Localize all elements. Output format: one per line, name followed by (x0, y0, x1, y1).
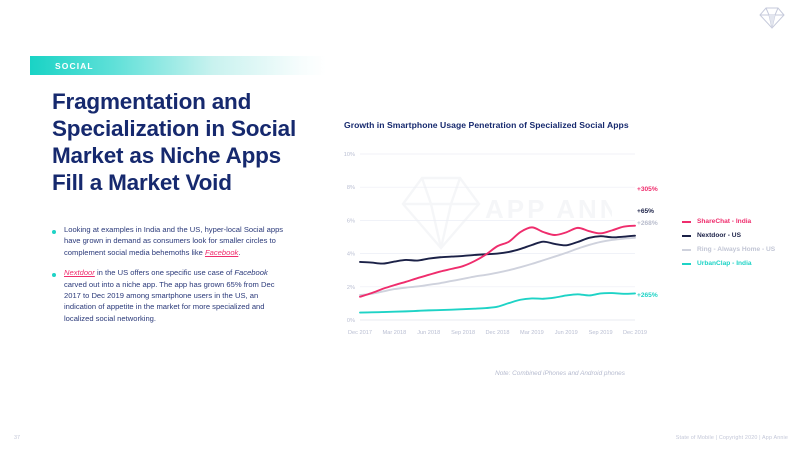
chart-note: Note: Combined iPhones and Android phone… (400, 370, 720, 377)
slide: SOCIAL Fragmentation and Specialization … (0, 0, 800, 450)
legend-swatch-icon (682, 249, 691, 251)
legend-swatch-icon (682, 221, 691, 223)
inline-link[interactable]: Facebook (205, 248, 238, 257)
x-axis-tick-label: Dec 2017 (348, 330, 372, 336)
y-axis-tick-label: 6% (347, 218, 355, 224)
x-axis-tick-label: Sep 2019 (589, 330, 613, 336)
legend-swatch-icon (682, 235, 691, 237)
legend-item-urbanclap[interactable]: UrbanClap - India (682, 260, 792, 267)
inline-link[interactable]: Nextdoor (64, 268, 95, 277)
bullet-dot-icon (52, 273, 56, 277)
x-axis-tick-label: Sep 2018 (451, 330, 475, 336)
bullet-list: Looking at examples in India and the US,… (52, 224, 284, 333)
y-axis-tick-label: 2% (347, 285, 355, 291)
list-item: Looking at examples in India and the US,… (52, 224, 284, 258)
series-end-label-urbanclap: +265% (637, 292, 658, 299)
y-axis-tick-label: 4% (347, 252, 355, 258)
bullet-text-1: Looking at examples in India and the US,… (64, 224, 284, 258)
category-banner: SOCIAL (30, 56, 326, 75)
y-axis-tick-label: 8% (347, 185, 355, 191)
x-axis-tick-label: Mar 2019 (520, 330, 544, 336)
legend-item-sharechat[interactable]: ShareChat - India (682, 218, 792, 225)
legend-label: Ring - Always Home - US (697, 246, 775, 253)
line-chart-svg: 0%2%4%6%8%10%Dec 2017Mar 2018Jun 2018Sep… (340, 150, 658, 355)
chart-title: Growth in Smartphone Usage Penetration o… (344, 120, 629, 130)
series-line-urbanclap-india (360, 293, 635, 312)
legend-label: Nextdoor - US (697, 232, 741, 239)
bullet-text-2: Nextdoor in the US offers one specific u… (64, 267, 284, 324)
x-axis-tick-label: Dec 2019 (623, 330, 647, 336)
legend-swatch-icon (682, 263, 691, 265)
category-label: SOCIAL (30, 61, 94, 71)
chart-legend: ShareChat - India Nextdoor - US Ring - A… (682, 218, 792, 274)
legend-item-ring[interactable]: Ring - Always Home - US (682, 246, 792, 253)
x-axis-tick-label: Mar 2018 (383, 330, 407, 336)
x-axis-tick-label: Jun 2018 (417, 330, 440, 336)
page-number: 37 (14, 435, 20, 441)
page-title: Fragmentation and Specialization in Soci… (52, 88, 310, 196)
x-axis-tick-label: Dec 2018 (486, 330, 510, 336)
legend-label: UrbanClap - India (697, 260, 752, 267)
y-axis-tick-label: 0% (347, 318, 355, 324)
plot-area: 0%2%4%6%8%10%Dec 2017Mar 2018Jun 2018Sep… (340, 150, 658, 338)
series-end-label-sharechat: +305% (637, 186, 658, 193)
chart-container: Growth in Smartphone Usage Penetration o… (330, 112, 790, 387)
legend-label: ShareChat - India (697, 218, 751, 225)
legend-item-nextdoor[interactable]: Nextdoor - US (682, 232, 792, 239)
list-item: Nextdoor in the US offers one specific u… (52, 267, 284, 324)
series-end-label-ring: +268% (637, 220, 658, 227)
series-end-label-nextdoor: +65% (637, 208, 654, 215)
footer-text: State of Mobile | Copyright 2020 | App A… (676, 435, 788, 441)
bullet-dot-icon (52, 230, 56, 234)
series-line-nextdoor-us (360, 236, 635, 264)
y-axis-tick-label: 10% (344, 152, 355, 158)
app-annie-diamond-logo (758, 5, 786, 31)
x-axis-tick-label: Jun 2019 (555, 330, 578, 336)
